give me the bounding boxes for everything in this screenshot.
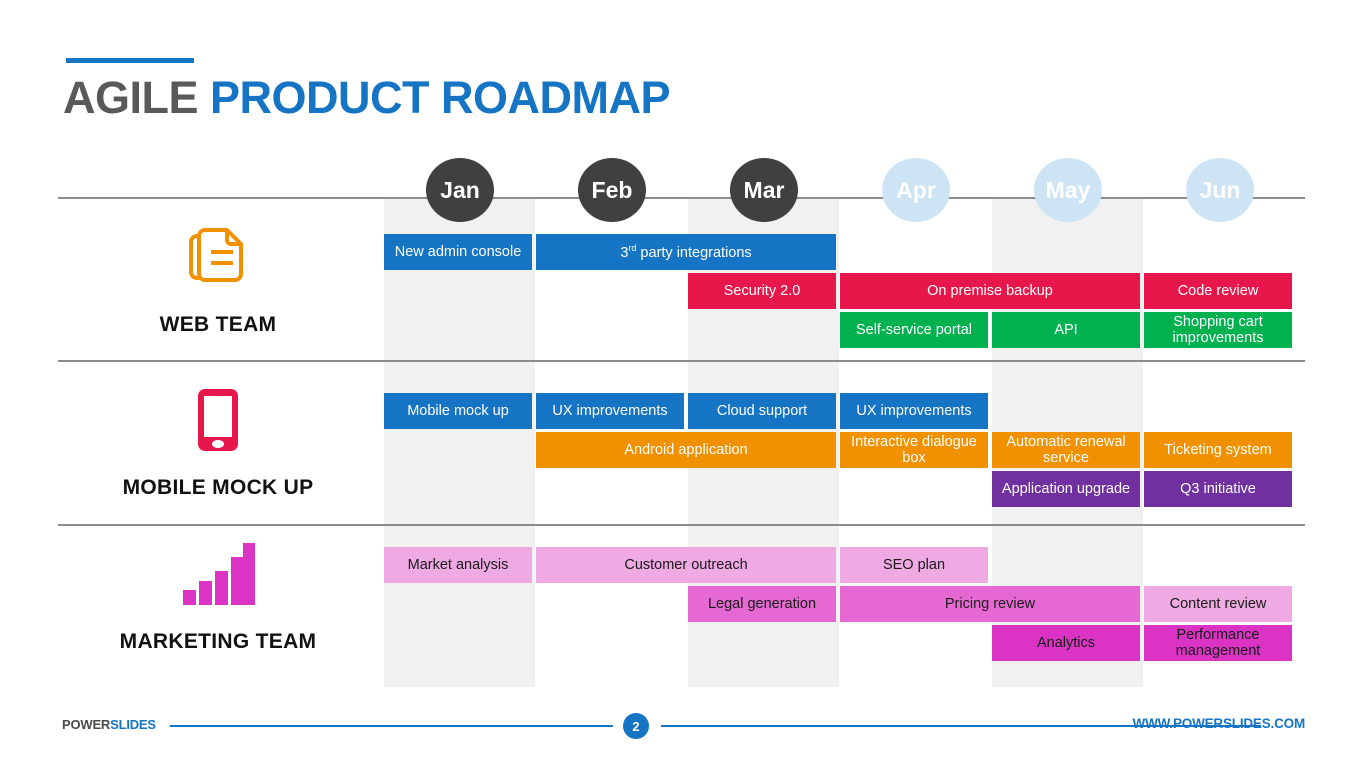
footer-logo-slides: SLIDES xyxy=(110,717,156,732)
task-bar[interactable]: Code review xyxy=(1144,273,1292,309)
page-number-badge: 2 xyxy=(623,713,649,739)
bar-chart-icon xyxy=(181,532,255,616)
title-accent-rule xyxy=(66,58,194,63)
smartphone-icon xyxy=(196,378,240,462)
documents-icon xyxy=(187,215,249,299)
month-circle-jun[interactable]: Jun xyxy=(1186,158,1254,222)
documents-icon xyxy=(187,226,249,288)
row-label: MOBILE MOCK UP xyxy=(123,476,314,500)
title-part-agile: AGILE xyxy=(63,72,198,123)
bar-chart-icon xyxy=(181,541,255,607)
month-circle-jan[interactable]: Jan xyxy=(426,158,494,222)
task-bar[interactable]: Pricing review xyxy=(840,586,1140,622)
task-bar[interactable]: Interactive dialogue box xyxy=(840,432,988,468)
task-bar[interactable]: Application upgrade xyxy=(992,471,1140,507)
task-bar[interactable]: Shopping cart improvements xyxy=(1144,312,1292,348)
task-bar[interactable]: Ticketing system xyxy=(1144,432,1292,468)
task-bar[interactable]: Market analysis xyxy=(384,547,532,583)
row-header-web-team: WEB TEAM xyxy=(58,215,378,337)
footer-logo: POWERSLIDES xyxy=(62,717,156,732)
task-bar[interactable]: New admin console xyxy=(384,234,532,270)
row-header-marketing-team: MARKETING TEAM xyxy=(58,532,378,654)
task-bar[interactable]: Self-service portal xyxy=(840,312,988,348)
row-separator-2 xyxy=(58,524,1305,526)
footer-rule-left xyxy=(170,725,613,727)
task-bar[interactable]: 3rd party integrations xyxy=(536,234,836,270)
task-bar[interactable]: Automatic renewal service xyxy=(992,432,1140,468)
task-bar[interactable]: Legal generation xyxy=(688,586,836,622)
task-bar[interactable]: UX improvements xyxy=(840,393,988,429)
row-label: WEB TEAM xyxy=(160,313,277,337)
footer-url: WWW.POWERSLIDES.COM xyxy=(1133,716,1305,731)
task-bar[interactable]: Cloud support xyxy=(688,393,836,429)
task-bar[interactable]: API xyxy=(992,312,1140,348)
slide-canvas: AGILE PRODUCT ROADMAP JanFebMarAprMayJun… xyxy=(0,0,1365,767)
task-bar[interactable]: Customer outreach xyxy=(536,547,836,583)
month-circle-may[interactable]: May xyxy=(1034,158,1102,222)
task-bar[interactable]: SEO plan xyxy=(840,547,988,583)
row-label: MARKETING TEAM xyxy=(120,630,317,654)
task-bar[interactable]: Analytics xyxy=(992,625,1140,661)
column-band-jan xyxy=(384,198,535,687)
task-bar[interactable]: Security 2.0 xyxy=(688,273,836,309)
task-bar[interactable]: Performance management xyxy=(1144,625,1292,661)
month-circle-apr[interactable]: Apr xyxy=(882,158,950,222)
month-circle-mar[interactable]: Mar xyxy=(730,158,798,222)
page-title: AGILE PRODUCT ROADMAP xyxy=(63,72,670,124)
task-bar[interactable]: UX improvements xyxy=(536,393,684,429)
row-separator-1 xyxy=(58,360,1305,362)
task-bar[interactable]: Q3 initiative xyxy=(1144,471,1292,507)
month-circle-feb[interactable]: Feb xyxy=(578,158,646,222)
footer-logo-power: POWER xyxy=(62,717,110,732)
task-bar[interactable]: Android application xyxy=(536,432,836,468)
task-bar[interactable]: Content review xyxy=(1144,586,1292,622)
title-part-product-roadmap: PRODUCT ROADMAP xyxy=(210,72,670,123)
smartphone-icon xyxy=(196,387,240,453)
timeline-axis-rule xyxy=(58,197,1305,199)
task-bar[interactable]: Mobile mock up xyxy=(384,393,532,429)
row-header-mobile-mock-up: MOBILE MOCK UP xyxy=(58,378,378,500)
task-bar[interactable]: On premise backup xyxy=(840,273,1140,309)
